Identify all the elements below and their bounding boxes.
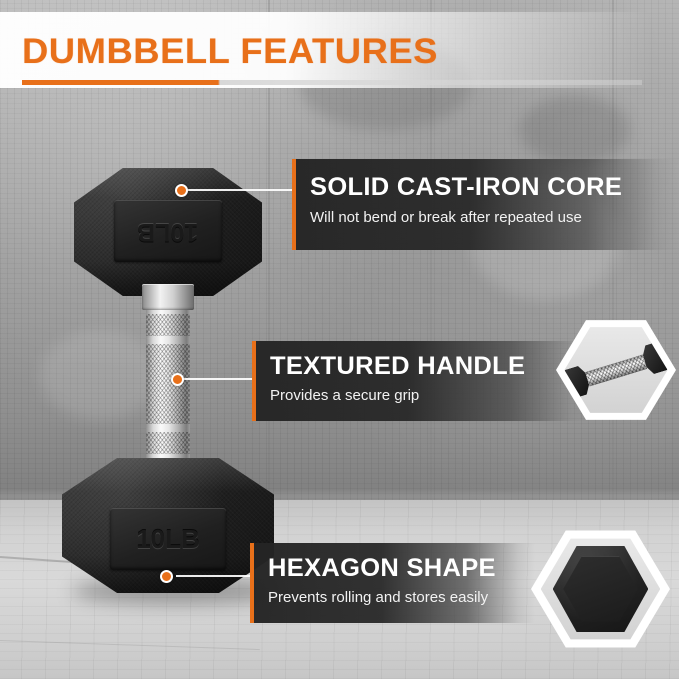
knurl-band [146, 314, 190, 336]
mini-knurled-shaft [585, 354, 647, 386]
handle-closeup-image [564, 325, 667, 414]
header-banner: DUMBBELL FEATURES [0, 12, 679, 88]
handle-collar [142, 284, 194, 310]
feature-dot-core[interactable] [175, 184, 188, 197]
callout-core[interactable]: SOLID CAST-IRON CORE Will not bend or br… [292, 159, 679, 250]
product-feature-infographic: DUMBBELL FEATURES 10LB 10LB [0, 0, 679, 679]
wall-stain [520, 95, 630, 165]
feature-dot-handle[interactable] [171, 373, 184, 386]
head-facet [62, 458, 274, 492]
callout-subtitle: Prevents rolling and stores easily [268, 589, 488, 606]
callout-subtitle: Will not bend or break after repeated us… [310, 209, 582, 226]
head-facet [74, 168, 262, 198]
dumbbell-handle [146, 288, 190, 478]
leader-line-core [186, 189, 294, 191]
leader-line-hexagon [176, 575, 254, 577]
feature-dot-hexagon[interactable] [160, 570, 173, 583]
weight-plate-top: 10LB [114, 200, 222, 262]
callout-accent-bar [252, 341, 256, 421]
hexagon-end-image [541, 537, 661, 642]
knurl-grip [146, 344, 190, 424]
title-underline [22, 80, 642, 85]
callout-accent-bar [250, 543, 254, 623]
page-title: DUMBBELL FEATURES [22, 32, 438, 72]
callout-subtitle: Provides a secure grip [270, 387, 419, 404]
mini-dumbbell-graphic [564, 344, 667, 397]
callout-accent-bar [292, 159, 296, 250]
knurl-band [146, 432, 190, 454]
callout-title: TEXTURED HANDLE [270, 352, 525, 381]
hexagon-inner-face [563, 556, 638, 621]
weight-label-top: 10LB [137, 217, 198, 246]
weight-plate-bottom: 10LB [110, 508, 226, 570]
callout-title: HEXAGON SHAPE [268, 554, 496, 583]
weight-label-bottom: 10LB [136, 524, 200, 555]
dumbbell-product-image: 10LB 10LB [62, 168, 272, 593]
leader-line-handle [182, 378, 254, 380]
hexagon-end-face [553, 546, 649, 632]
callout-title: SOLID CAST-IRON CORE [310, 173, 622, 202]
